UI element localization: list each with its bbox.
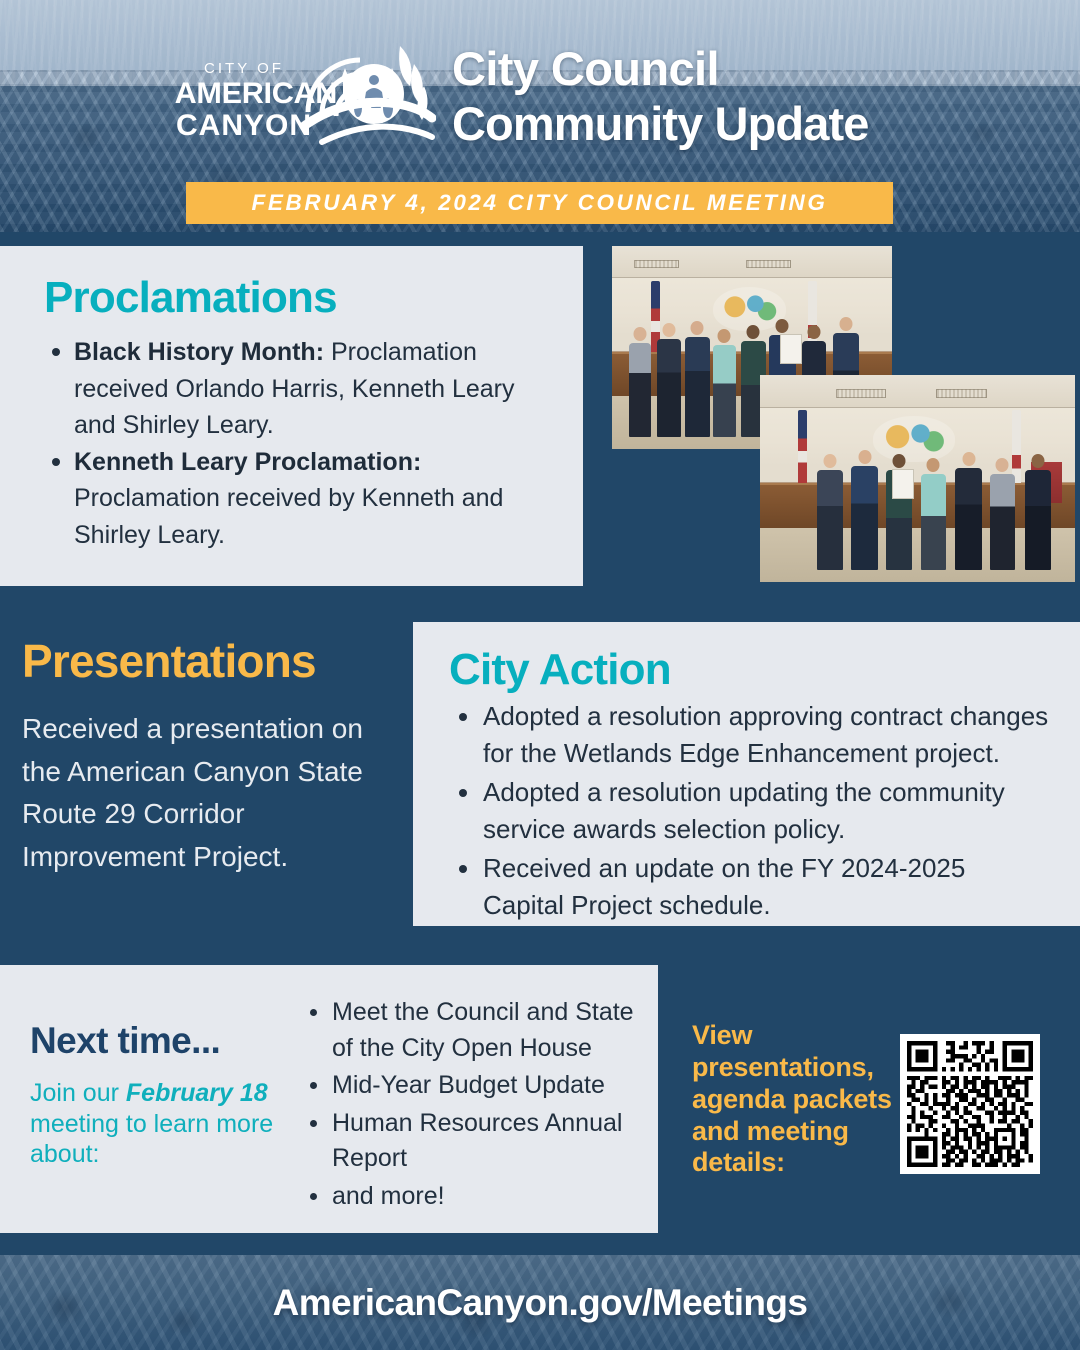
- next-time-left: Next time... Join our February 18 meetin…: [30, 1020, 292, 1170]
- presentations-section: Presentations Received a presentation on…: [22, 638, 402, 878]
- infographic-page: CITY OF AMERICAN CANYON: [0, 0, 1080, 1350]
- person-head: [691, 321, 704, 335]
- ceiling-vent: [746, 260, 791, 268]
- logo-city-of-text: CITY OF: [176, 60, 312, 77]
- ceiling-vent: [936, 389, 986, 397]
- proclamation-group-photo-2: [760, 375, 1075, 582]
- person-head: [927, 458, 940, 472]
- ceiling-vent: [634, 260, 679, 268]
- city-action-panel: City Action Adopted a resolution approvi…: [413, 622, 1080, 926]
- person: [955, 468, 982, 570]
- person: [817, 470, 843, 570]
- proclamations-heading: Proclamations: [44, 276, 547, 320]
- list-item: Kenneth Leary Proclamation: Proclamation…: [44, 444, 547, 554]
- person-head: [776, 319, 789, 333]
- logo-canyon-text: CANYON: [176, 110, 312, 142]
- person-head: [996, 458, 1009, 472]
- list-item: Received an update on the FY 2024-2025 C…: [449, 850, 1052, 924]
- list-item: Human Resources Annual Report: [300, 1106, 645, 1177]
- ceiling-vent: [836, 389, 886, 397]
- city-seal-icon: [296, 38, 436, 161]
- proclamations-panel: Proclamations Black History Month: Procl…: [0, 246, 583, 586]
- person-head: [662, 323, 675, 337]
- person-head: [962, 452, 975, 466]
- person: [921, 474, 946, 570]
- person: [629, 343, 651, 437]
- list-item: and more!: [300, 1179, 645, 1215]
- page-title: City Council Community Update: [452, 42, 868, 151]
- city-action-heading: City Action: [449, 648, 1052, 692]
- next-time-sub-suffix: meeting to learn more about:: [30, 1110, 273, 1169]
- city-logo-wordmark: CITY OF AMERICAN CANYON: [176, 60, 312, 141]
- list-item: Mid-Year Budget Update: [300, 1068, 645, 1104]
- next-time-sub-prefix: Join our: [30, 1079, 126, 1107]
- person-head: [747, 325, 760, 339]
- list-item: Adopted a resolution updating the commun…: [449, 774, 1052, 848]
- meeting-date-banner: FEBRUARY 4, 2024 CITY COUNCIL MEETING: [186, 182, 893, 224]
- next-time-panel: Next time... Join our February 18 meetin…: [0, 965, 658, 1233]
- next-time-subtext: Join our February 18 meeting to learn mo…: [30, 1078, 292, 1170]
- person-head: [893, 454, 906, 468]
- next-time-date: February 18: [126, 1079, 268, 1107]
- california-flag-icon: [1012, 410, 1021, 485]
- person: [713, 345, 736, 437]
- proclamation-certificate: [892, 469, 914, 499]
- proclamation-text: Proclamation received by Kenneth and Shi…: [74, 484, 503, 549]
- city-logo: CITY OF AMERICAN CANYON: [168, 38, 436, 156]
- presentations-body: Received a presentation on the American …: [22, 708, 402, 878]
- list-item: Adopted a resolution approving contract …: [449, 698, 1052, 772]
- presentations-heading: Presentations: [22, 638, 402, 684]
- list-item: Black History Month: Proclamation receiv…: [44, 334, 547, 444]
- qr-label: View presentations, agenda packets and m…: [692, 1020, 892, 1179]
- ceiling: [760, 375, 1075, 408]
- logo-american-text: AMERICAN: [175, 78, 314, 110]
- qr-code[interactable]: [900, 1034, 1040, 1174]
- next-time-topics: Meet the Council and State of the City O…: [300, 995, 645, 1216]
- us-flag-icon: [798, 410, 807, 485]
- person-head: [858, 450, 871, 464]
- page-title-line-1: City Council: [452, 42, 868, 97]
- proclamation-lead: Black History Month:: [74, 338, 324, 366]
- person-head: [823, 454, 836, 468]
- person: [851, 466, 878, 570]
- meeting-date-text: FEBRUARY 4, 2024 CITY COUNCIL MEETING: [252, 190, 828, 216]
- proclamation-certificate: [780, 334, 802, 364]
- person: [990, 474, 1015, 570]
- page-title-line-2: Community Update: [452, 97, 868, 152]
- header-banner: CITY OF AMERICAN CANYON: [0, 0, 1080, 232]
- person-head: [633, 327, 646, 341]
- person-head: [718, 329, 731, 343]
- proclamation-lead: Kenneth Leary Proclamation:: [74, 448, 421, 476]
- list-item: Meet the Council and State of the City O…: [300, 995, 645, 1066]
- person: [685, 337, 710, 437]
- person: [1025, 470, 1051, 570]
- person-head: [840, 317, 853, 331]
- footer-banner: AmericanCanyon.gov/Meetings: [0, 1255, 1080, 1350]
- chamber-city-seal: [713, 287, 786, 332]
- footer-url[interactable]: AmericanCanyon.gov/Meetings: [0, 1255, 1080, 1350]
- person-head: [808, 325, 821, 339]
- person: [657, 339, 681, 437]
- chamber-city-seal: [873, 416, 955, 462]
- next-time-heading: Next time...: [30, 1020, 292, 1062]
- council-chamber-scene: [760, 375, 1075, 582]
- city-action-list: Adopted a resolution approving contract …: [449, 698, 1052, 923]
- person-head: [1031, 454, 1044, 468]
- proclamations-list: Black History Month: Proclamation receiv…: [44, 334, 547, 553]
